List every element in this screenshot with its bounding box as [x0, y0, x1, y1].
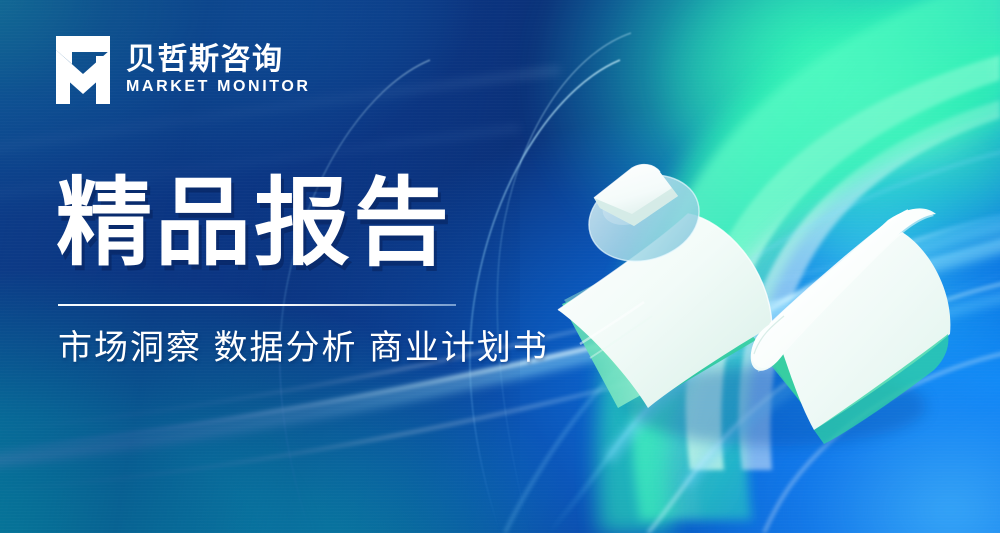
page-title: 精品报告	[56, 176, 549, 272]
market-monitor-m-logo-icon	[54, 34, 112, 106]
logo-name-cn: 贝哲斯咨询	[126, 44, 311, 76]
logo-text-group: 贝哲斯咨询 MARKET MONITOR	[126, 44, 311, 96]
title-divider	[58, 304, 456, 306]
promo-banner: 贝哲斯咨询 MARKET MONITOR 精品报告 市场洞察 数据分析 商业计划…	[0, 0, 1000, 533]
brand-logo[interactable]: 贝哲斯咨询 MARKET MONITOR	[54, 34, 311, 106]
open-book-illustration	[556, 158, 976, 448]
headline-block: 精品报告 市场洞察 数据分析 商业计划书	[56, 176, 549, 365]
logo-name-en: MARKET MONITOR	[126, 79, 311, 96]
page-subtitle: 市场洞察 数据分析 商业计划书	[58, 331, 549, 365]
